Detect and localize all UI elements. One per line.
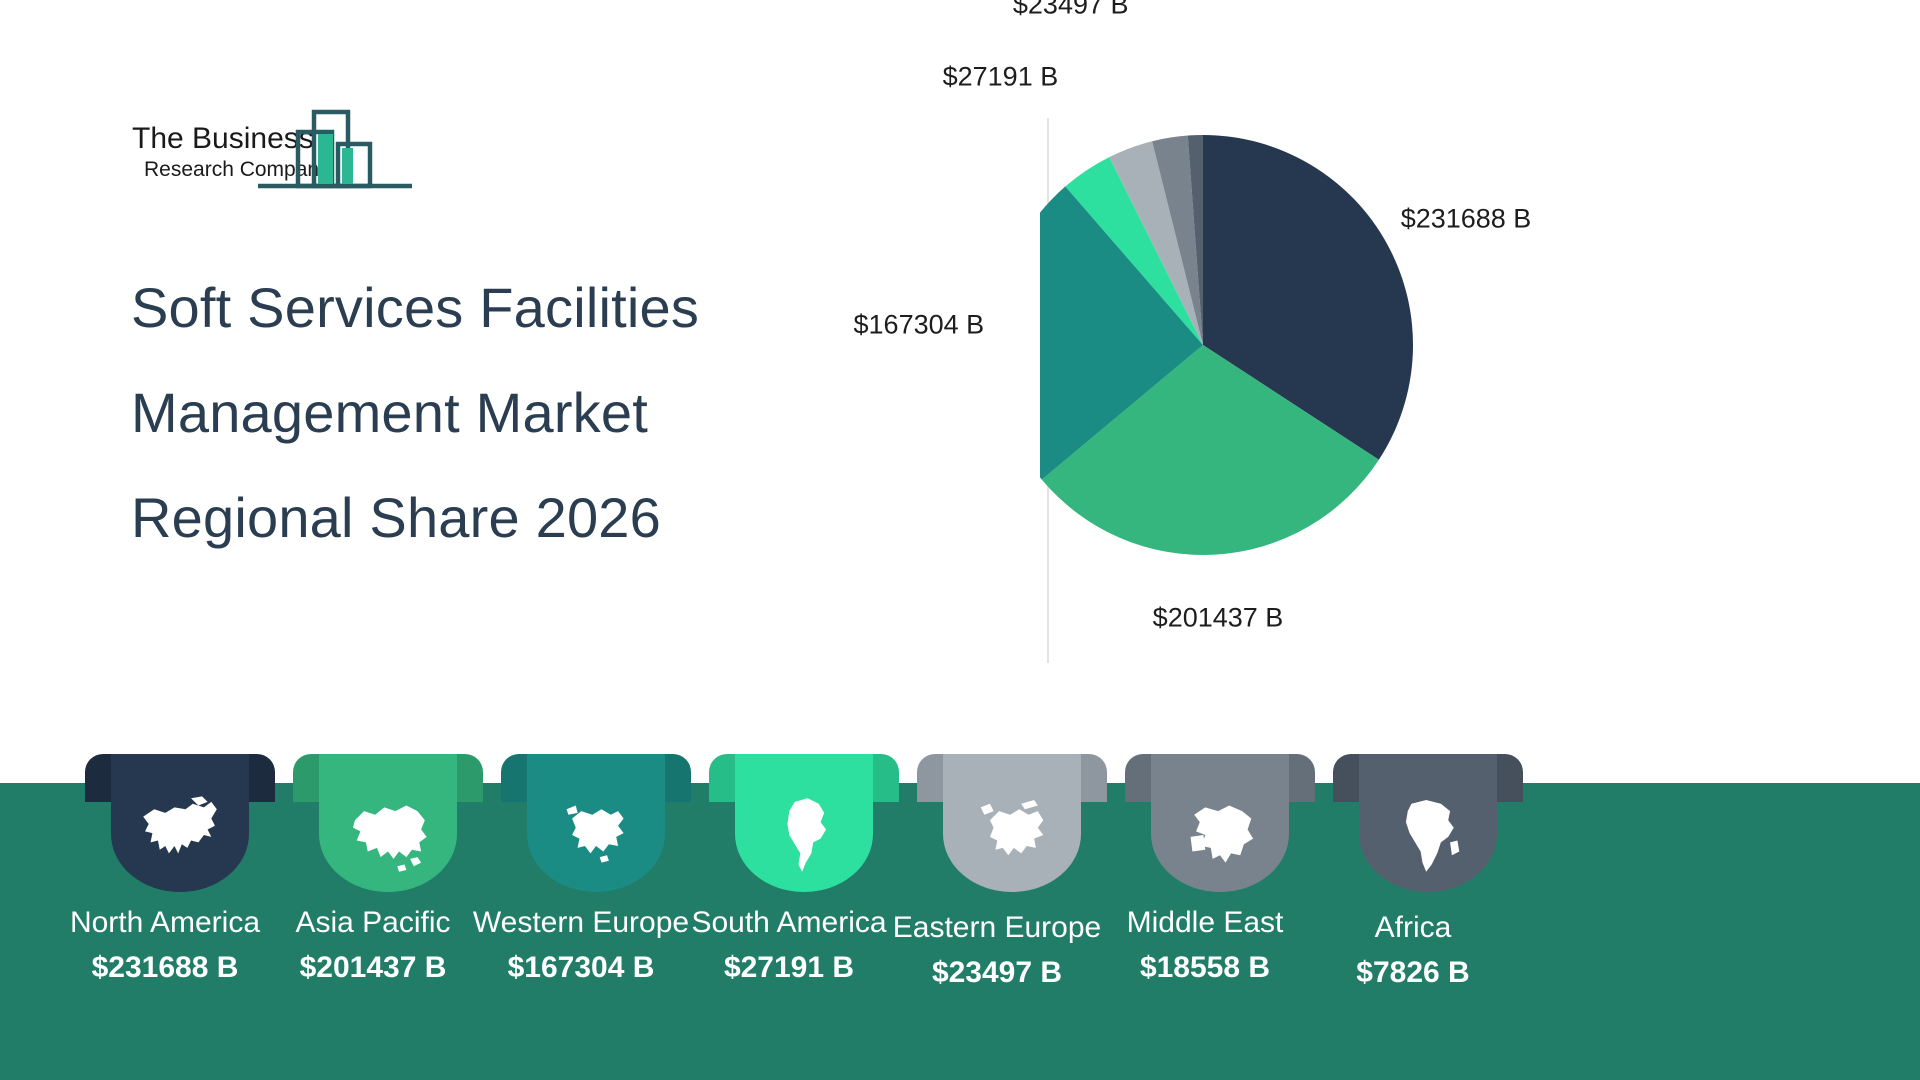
brand-logo-icon: The Business Research Company: [130, 104, 420, 190]
western-europe-map-icon: [501, 776, 691, 894]
pie-slice-label: $167304 B: [854, 309, 985, 340]
logo-bar-accent-1: [318, 134, 333, 184]
region-badge-middle-east[interactable]: [1125, 754, 1315, 894]
region-badge-western-europe[interactable]: [501, 754, 691, 894]
region-badge-africa[interactable]: [1333, 754, 1523, 894]
region-badge-eastern-europe[interactable]: [917, 754, 1107, 894]
asia-pacific-map-icon: [293, 776, 483, 894]
south-america-map-icon: [709, 776, 899, 894]
logo-line1: The Business: [132, 122, 314, 155]
middle-east-map-icon: [1125, 776, 1315, 894]
infographic-canvas: The Business Research Company Soft Servi…: [0, 0, 1920, 1080]
logo-line2: Research Company: [144, 158, 330, 181]
region-name: Africa: [1268, 908, 1558, 948]
north-america-map-icon: [85, 776, 275, 894]
page-title: Soft Services Facilities Management Mark…: [131, 255, 931, 570]
logo-bar-accent-2: [342, 148, 353, 184]
eastern-europe-map-icon: [917, 776, 1107, 894]
pie-slice-label: $201437 B: [1153, 602, 1284, 633]
region-badge-south-america[interactable]: [709, 754, 899, 894]
brand-logo: The Business Research Company: [130, 104, 420, 190]
pie-slice-label: $231688 B: [1401, 203, 1532, 234]
region-badge-asia-pacific[interactable]: [293, 754, 483, 894]
pie-slices: [1040, 135, 1413, 555]
africa-map-icon: [1333, 776, 1523, 894]
region-badge-north-america[interactable]: [85, 754, 275, 894]
pie-slice-label: $27191 B: [943, 62, 1059, 93]
pie-slice-label: $23497 B: [1013, 0, 1129, 21]
region-value: $7826 B: [1268, 951, 1558, 995]
pie-chart: $231688 B$201437 B$167304 B$27191 B$2349…: [1040, 30, 1920, 710]
